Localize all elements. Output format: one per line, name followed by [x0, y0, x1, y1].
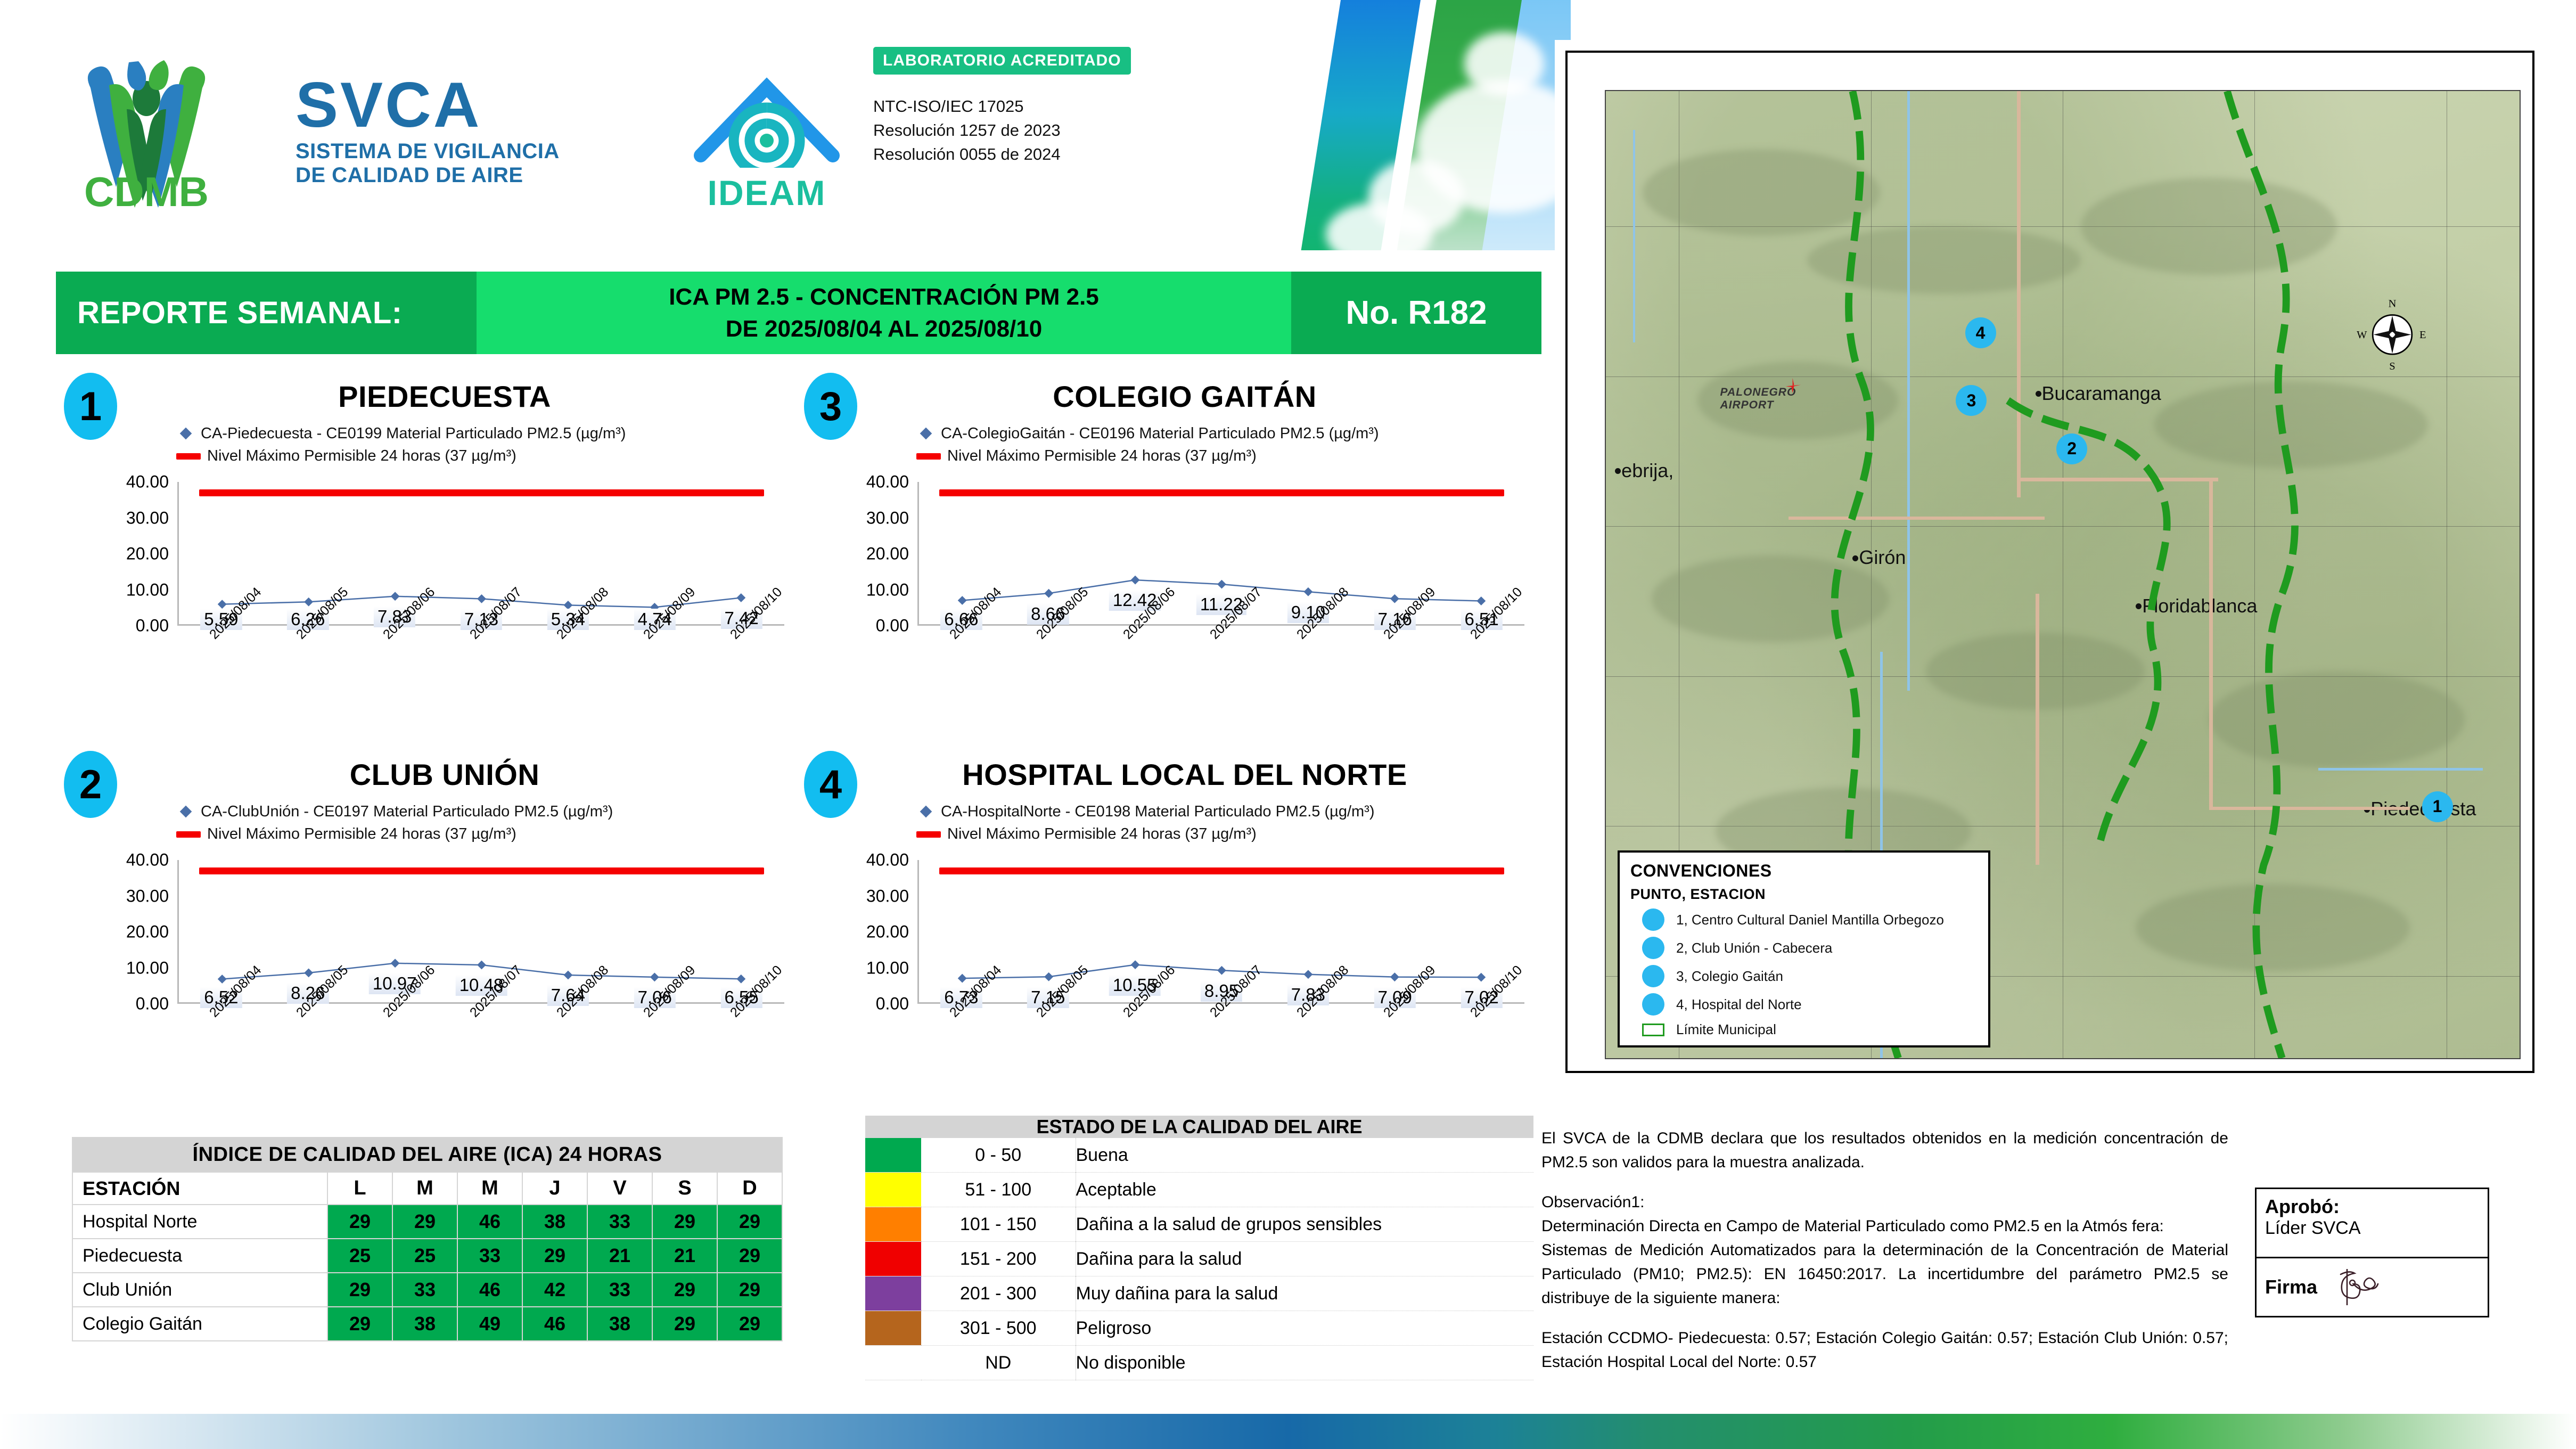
y-axis-tick-label: 20.00 [866, 922, 909, 942]
y-axis-tick-label: 10.00 [866, 580, 909, 600]
series-line [179, 482, 784, 624]
ica-value-cell: 21 [587, 1239, 652, 1273]
ica-value-cell: 25 [392, 1239, 457, 1273]
legend-series-row: CA-Piedecuesta - CE0199 Material Particu… [178, 425, 626, 443]
chart-legend: CA-Piedecuesta - CE0199 Material Particu… [178, 425, 626, 470]
boundary-swatch-icon [1642, 1024, 1664, 1036]
chart-title: PIEDECUESTA [141, 379, 748, 414]
plot-axes: 6.737.1510.558.957.837.097.02 [917, 860, 1524, 1004]
ica-col-header: M [457, 1172, 522, 1205]
compass-rose-icon: N S W E [2355, 294, 2430, 374]
y-axis-tick-label: 10.00 [866, 958, 909, 978]
aq-range-label: 151 - 200 [921, 1242, 1076, 1276]
chart-plot-area: 0.0010.0020.0030.0040.00 6.668.6612.4211… [833, 482, 1531, 658]
y-axis: 0.0010.0020.0030.0040.00 [833, 482, 913, 626]
chart-plot-area: 0.0010.0020.0030.0040.00 5.596.267.837.1… [93, 482, 791, 658]
accreditation-line-3: Resolución 0055 de 2024 [873, 143, 1171, 167]
report-type-label: REPORTE SEMANAL: [56, 272, 477, 354]
ica-col-header: M [392, 1172, 457, 1205]
ica-value-cell: 25 [327, 1239, 392, 1273]
conventions-subtitle: PUNTO, ESTACION [1630, 886, 1978, 903]
svca-acronym: SVCA [296, 75, 594, 135]
conventions-item-3: 3, Colegio Gaitán [1630, 965, 1978, 987]
ica-value-cell: 46 [457, 1273, 522, 1307]
ica-value-cell: 38 [587, 1307, 652, 1341]
accreditation-line-1: NTC-ISO/IEC 17025 [873, 95, 1171, 119]
chart-panel-piedecuesta: 1PIEDECUESTA CA-Piedecuesta - CE0199 Mat… [56, 367, 801, 740]
legend-threshold-label: Nivel Máximo Permisible 24 horas (37 µg/… [207, 447, 516, 465]
list-item: 201 - 300 Muy dañina para la salud [865, 1276, 1533, 1311]
chart-title: CLUB UNIÓN [141, 757, 748, 792]
accreditation-line-2: Resolución 1257 de 2023 [873, 119, 1171, 143]
conventions-title: CONVENCIONES [1630, 861, 1978, 881]
station-dot-icon [1642, 908, 1664, 931]
conventions-item-2: 2, Club Unión - Cabecera [1630, 937, 1978, 959]
legend-threshold-row: Nivel Máximo Permisible 24 horas (37 µg/… [918, 447, 1379, 465]
ica-value-cell: 33 [587, 1273, 652, 1307]
ica-value-cell: 33 [392, 1273, 457, 1307]
diamond-marker-icon [918, 804, 934, 820]
list-item: ND No disponible [865, 1346, 1533, 1380]
list-item: 301 - 500 Peligroso [865, 1311, 1533, 1346]
red-line-marker-icon [176, 831, 201, 838]
ica-value-cell: 46 [457, 1205, 522, 1239]
legend-series-label: CA-Piedecuesta - CE0199 Material Particu… [201, 425, 626, 443]
aq-range-label: 201 - 300 [921, 1276, 1076, 1311]
ica-station-name: Hospital Norte [72, 1205, 327, 1239]
svg-text:S: S [2389, 361, 2395, 372]
aq-description-label: No disponible [1076, 1346, 1533, 1380]
svg-text:CDMB: CDMB [84, 168, 209, 215]
aq-description-label: Dañina a la salud de grupos sensibles [1076, 1207, 1533, 1242]
y-axis-tick-label: 30.00 [866, 508, 909, 528]
aq-description-label: Aceptable [1076, 1173, 1533, 1207]
aq-color-swatch [865, 1346, 921, 1380]
legend-threshold-row: Nivel Máximo Permisible 24 horas (37 µg/… [918, 825, 1375, 843]
station-dot-icon [1642, 937, 1664, 959]
aq-color-swatch [865, 1276, 921, 1311]
map-canvas: 1095000 1100000 1105000 1110000 1115000 … [1605, 90, 2521, 1059]
approved-by-cell: Aprobó: Líder SVCA [2257, 1189, 2488, 1258]
signature-mark [2331, 1266, 2400, 1308]
table-row: Hospital Norte29294638332929 [72, 1205, 782, 1239]
ica-value-cell: 49 [457, 1307, 522, 1341]
ica-value-cell: 29 [522, 1239, 587, 1273]
approval-box: Aprobó: Líder SVCA Firma [2255, 1188, 2489, 1317]
ica-table-title: ÍNDICE DE CALIDAD DEL AIRE (ICA) 24 HORA… [72, 1137, 782, 1172]
y-axis-tick-label: 40.00 [126, 850, 169, 870]
svg-text:N: N [2389, 298, 2397, 310]
aq-description-label: Muy dañina para la salud [1076, 1276, 1533, 1311]
aq-range-label: 0 - 50 [921, 1138, 1076, 1173]
red-line-marker-icon [916, 831, 941, 838]
table-row: Club Unión29334642332929 [72, 1273, 782, 1307]
chart-title: COLEGIO GAITÁN [881, 379, 1488, 414]
list-item: 0 - 50 Buena [865, 1138, 1533, 1173]
y-axis-tick-label: 0.00 [136, 994, 169, 1014]
aq-color-swatch [865, 1207, 921, 1242]
ica-value-cell: 46 [522, 1307, 587, 1341]
red-line-marker-icon [176, 453, 201, 460]
ica-value-cell: 29 [652, 1273, 717, 1307]
approved-by-value: Líder SVCA [2265, 1218, 2479, 1239]
list-item: 51 - 100 Aceptable [865, 1173, 1533, 1207]
legend-series-label: CA-ColegioGaitán - CE0196 Material Parti… [941, 425, 1379, 443]
ica-station-name: Club Unión [72, 1273, 327, 1307]
declaration-p2: Observación1: [1541, 1190, 2228, 1214]
report-title-bar: REPORTE SEMANAL: ICA PM 2.5 - CONCENTRAC… [56, 272, 1541, 354]
report-page: CDMB SVCA SISTEMA DE VIGILANCIA DE CALID… [0, 0, 2576, 1449]
report-number: No. R182 [1291, 272, 1541, 354]
ica-value-cell: 29 [717, 1239, 782, 1273]
air-quality-state-legend: ESTADO DE LA CALIDAD DEL AIRE 0 - 50 Bue… [865, 1116, 1533, 1380]
chart-number-badge: 2 [64, 751, 117, 818]
aq-description-label: Dañina para la salud [1076, 1242, 1533, 1276]
y-axis-tick-label: 10.00 [126, 580, 169, 600]
y-axis-tick-label: 40.00 [866, 850, 909, 870]
ica-value-cell: 29 [327, 1273, 392, 1307]
ica-value-cell: 29 [652, 1205, 717, 1239]
chart-legend: CA-ColegioGaitán - CE0196 Material Parti… [918, 425, 1379, 470]
legend-series-row: CA-ClubUnión - CE0197 Material Particula… [178, 803, 613, 821]
ica-col-station: ESTACIÓN [72, 1172, 327, 1205]
declaration-text: El SVCA de la CDMB declara que los resul… [1541, 1126, 2228, 1374]
y-axis-tick-label: 30.00 [126, 508, 169, 528]
chart-panel-hospital-local-del-norte: 4HOSPITAL LOCAL DEL NORTE CA-HospitalNor… [796, 746, 1541, 1118]
y-axis-tick-label: 0.00 [876, 616, 909, 636]
y-axis-tick-label: 0.00 [136, 616, 169, 636]
y-axis-tick-label: 0.00 [876, 994, 909, 1014]
list-item: 151 - 200 Dañina para la salud [865, 1242, 1533, 1276]
legend-series-row: CA-HospitalNorte - CE0198 Material Parti… [918, 803, 1375, 821]
aq-range-label: 301 - 500 [921, 1311, 1076, 1346]
declaration-p3: Determinación Directa en Campo de Materi… [1541, 1214, 2228, 1238]
legend-threshold-row: Nivel Máximo Permisible 24 horas (37 µg/… [178, 825, 613, 843]
conventions-item-label: 4, Hospital del Norte [1676, 996, 1802, 1013]
svca-logo: SVCA SISTEMA DE VIGILANCIA DE CALIDAD DE… [296, 75, 594, 213]
ica-value-cell: 29 [652, 1307, 717, 1341]
signature-label: Firma [2265, 1276, 2317, 1298]
ica-value-cell: 29 [327, 1205, 392, 1239]
plot-axes: 5.596.267.837.135.344.747.42 [177, 482, 784, 626]
aq-range-label: ND [921, 1346, 1076, 1380]
ica-col-header: L [327, 1172, 392, 1205]
ica-value-cell: 29 [717, 1273, 782, 1307]
chart-plot-area: 0.0010.0020.0030.0040.00 6.528.2610.9710… [93, 860, 791, 1036]
report-subject-line1: ICA PM 2.5 - CONCENTRACIÓN PM 2.5 [669, 281, 1099, 313]
accreditation-block: LABORATORIO ACREDITADO NTC-ISO/IEC 17025… [873, 47, 1171, 167]
chart-number-badge: 1 [64, 373, 117, 440]
chart-title: HOSPITAL LOCAL DEL NORTE [881, 757, 1488, 792]
aq-description-label: Peligroso [1076, 1311, 1533, 1346]
ica-station-name: Colegio Gaitán [72, 1307, 327, 1341]
x-axis: 2025/08/042025/08/052025/08/062025/08/07… [177, 1006, 784, 1097]
conventions-item-label: 2, Club Unión - Cabecera [1676, 940, 1832, 956]
ica-value-cell: 33 [457, 1239, 522, 1273]
map-conventions-legend: CONVENCIONES PUNTO, ESTACION 1, Centro C… [1618, 850, 1990, 1047]
svg-text:W: W [2357, 330, 2367, 341]
ideam-logo: IDEAM [687, 75, 847, 213]
map-frame: 1095000 1100000 1105000 1110000 1115000 … [1565, 51, 2534, 1073]
legend-threshold-label: Nivel Máximo Permisible 24 horas (37 µg/… [207, 825, 516, 843]
ica-col-header: D [717, 1172, 782, 1205]
ica-value-cell: 29 [717, 1205, 782, 1239]
ica-value-cell: 38 [522, 1205, 587, 1239]
chart-plot-area: 0.0010.0020.0030.0040.00 6.737.1510.558.… [833, 860, 1531, 1036]
ica-value-cell: 29 [392, 1205, 457, 1239]
approved-by-label: Aprobó: [2265, 1196, 2479, 1218]
chart-panel-club-union: 2CLUB UNIÓN CA-ClubUnión - CE0197 Materi… [56, 746, 801, 1118]
declaration-p4: Sistemas de Medición Automatizados para … [1541, 1238, 2228, 1310]
y-axis: 0.0010.0020.0030.0040.00 [833, 860, 913, 1004]
legend-threshold-row: Nivel Máximo Permisible 24 horas (37 µg/… [178, 447, 626, 465]
cdmb-logo: CDMB [59, 40, 234, 216]
ideam-label: IDEAM [687, 173, 847, 213]
conventions-item-1: 1, Centro Cultural Daniel Mantilla Orbeg… [1630, 908, 1978, 931]
red-line-marker-icon [916, 453, 941, 460]
chart-number-badge: 3 [804, 373, 857, 440]
svg-text:E: E [2419, 330, 2426, 341]
legend-series-label: CA-ClubUnión - CE0197 Material Particula… [201, 803, 613, 821]
y-axis-tick-label: 30.00 [126, 886, 169, 906]
conventions-item-label: 3, Colegio Gaitán [1676, 968, 1783, 985]
accreditation-badge: LABORATORIO ACREDITADO [873, 47, 1131, 75]
aq-description-label: Buena [1076, 1138, 1533, 1173]
report-subject: ICA PM 2.5 - CONCENTRACIÓN PM 2.5 DE 202… [477, 272, 1291, 354]
aq-range-label: 51 - 100 [921, 1173, 1076, 1207]
aq-color-swatch [865, 1173, 921, 1207]
chart-number-badge: 4 [804, 751, 857, 818]
ica-col-header: J [522, 1172, 587, 1205]
airport-icon [1784, 376, 1802, 395]
conventions-item-4: 4, Hospital del Norte [1630, 993, 1978, 1016]
ica-value-cell: 33 [587, 1205, 652, 1239]
aq-color-swatch [865, 1242, 921, 1276]
ica-value-cell: 29 [717, 1307, 782, 1341]
plot-axes: 6.528.2610.9710.487.647.066.55 [177, 860, 784, 1004]
ica-table: ÍNDICE DE CALIDAD DEL AIRE (ICA) 24 HORA… [72, 1137, 783, 1341]
x-axis: 2025/08/042025/08/052025/08/062025/08/07… [917, 628, 1524, 719]
ica-col-header: S [652, 1172, 717, 1205]
signature-cell: Firma [2257, 1258, 2488, 1316]
y-axis: 0.0010.0020.0030.0040.00 [93, 482, 173, 626]
ica-station-name: Piedecuesta [72, 1239, 327, 1273]
ica-col-header: V [587, 1172, 652, 1205]
aq-range-label: 101 - 150 [921, 1207, 1076, 1242]
y-axis-tick-label: 30.00 [866, 886, 909, 906]
accreditation-lines: NTC-ISO/IEC 17025Resolución 1257 de 2023… [873, 95, 1171, 167]
table-row: Piedecuesta25253329212129 [72, 1239, 782, 1273]
y-axis-tick-label: 20.00 [126, 544, 169, 564]
legend-series-label: CA-HospitalNorte - CE0198 Material Parti… [941, 803, 1375, 821]
station-dot-icon [1642, 993, 1664, 1016]
decorative-sky-banner [1166, 0, 1571, 250]
declaration-p1: El SVCA de la CDMB declara que los resul… [1541, 1126, 2228, 1174]
x-axis: 2025/08/042025/08/052025/08/062025/08/07… [177, 628, 784, 719]
chart-legend: CA-HospitalNorte - CE0198 Material Parti… [918, 803, 1375, 848]
diamond-marker-icon [178, 426, 194, 442]
legend-threshold-label: Nivel Máximo Permisible 24 horas (37 µg/… [947, 825, 1257, 843]
chart-legend: CA-ClubUnión - CE0197 Material Particula… [178, 803, 613, 848]
ica-value-cell: 38 [392, 1307, 457, 1341]
y-axis-tick-label: 40.00 [866, 472, 909, 492]
aq-color-swatch [865, 1138, 921, 1173]
conventions-boundary-label: Límite Municipal [1676, 1021, 1776, 1038]
legend-series-row: CA-ColegioGaitán - CE0196 Material Parti… [918, 425, 1379, 443]
svca-line2: DE CALIDAD DE AIRE [296, 163, 594, 187]
y-axis-tick-label: 20.00 [866, 544, 909, 564]
footer-gradient-bar [0, 1414, 2576, 1449]
table-row: Colegio Gaitán29384946382929 [72, 1307, 782, 1341]
ica-value-cell: 21 [652, 1239, 717, 1273]
y-axis: 0.0010.0020.0030.0040.00 [93, 860, 173, 1004]
conventions-boundary-row: Límite Municipal [1630, 1021, 1978, 1038]
list-item: 101 - 150 Dañina a la salud de grupos se… [865, 1207, 1533, 1242]
station-location-map: 1095000 1100000 1105000 1110000 1115000 … [1555, 40, 2545, 1084]
y-axis-tick-label: 40.00 [126, 472, 169, 492]
report-subject-line2: DE 2025/08/04 AL 2025/08/10 [726, 313, 1042, 345]
chart-panel-colegio-gaitan: 3COLEGIO GAITÁN CA-ColegioGaitán - CE019… [796, 367, 1541, 740]
aq-legend-title: ESTADO DE LA CALIDAD DEL AIRE [865, 1116, 1533, 1138]
y-axis-tick-label: 10.00 [126, 958, 169, 978]
diamond-marker-icon [918, 426, 934, 442]
legend-threshold-label: Nivel Máximo Permisible 24 horas (37 µg/… [947, 447, 1257, 465]
diamond-marker-icon [178, 804, 194, 820]
plot-axes: 6.668.6612.4211.229.107.166.51 [917, 482, 1524, 626]
aq-color-swatch [865, 1311, 921, 1346]
ica-value-cell: 29 [327, 1307, 392, 1341]
svca-line1: SISTEMA DE VIGILANCIA [296, 140, 594, 163]
x-axis: 2025/08/042025/08/052025/08/062025/08/07… [917, 1006, 1524, 1097]
station-dot-icon [1642, 965, 1664, 987]
conventions-item-label: 1, Centro Cultural Daniel Mantilla Orbeg… [1676, 912, 1944, 928]
declaration-p5: Estación CCDMO- Piedecuesta: 0.57; Estac… [1541, 1326, 2228, 1374]
y-axis-tick-label: 20.00 [126, 922, 169, 942]
ica-value-cell: 42 [522, 1273, 587, 1307]
